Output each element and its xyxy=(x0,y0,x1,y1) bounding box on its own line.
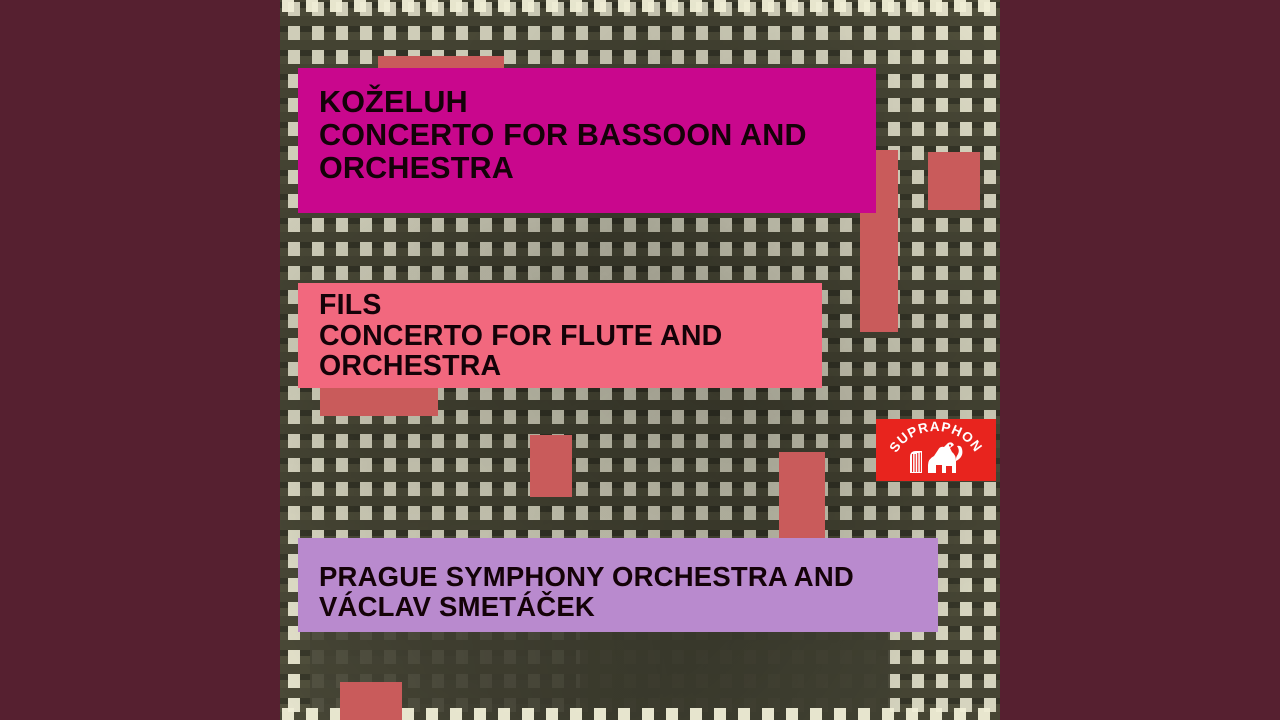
accent-rect xyxy=(320,388,438,416)
screen: KOŽELUH CONCERTO FOR BASSOON AND ORCHEST… xyxy=(0,0,1280,720)
letterbox-left xyxy=(0,0,280,720)
panel-kozeluh-line-3: ORCHESTRA xyxy=(319,152,876,185)
accent-rect xyxy=(340,682,402,720)
supraphon-logo: SUPRAPHON xyxy=(876,419,996,481)
album-cover-art: KOŽELUH CONCERTO FOR BASSOON AND ORCHEST… xyxy=(280,0,1000,720)
panel-kozeluh-line-1: KOŽELUH xyxy=(319,86,876,119)
panel-kozeluh-line-2: CONCERTO FOR BASSOON AND xyxy=(319,119,876,152)
panel-performers-line-1: PRAGUE SYMPHONY ORCHESTRA AND xyxy=(319,562,938,592)
panel-fils-line-2: CONCERTO FOR FLUTE AND xyxy=(319,321,822,352)
panel-kozeluh: KOŽELUH CONCERTO FOR BASSOON AND ORCHEST… xyxy=(298,68,876,213)
panel-fils-line-3: ORCHESTRA xyxy=(319,351,822,382)
panel-fils: FILS CONCERTO FOR FLUTE AND ORCHESTRA xyxy=(298,283,822,388)
panel-fils-line-1: FILS xyxy=(319,290,822,321)
letterbox-right xyxy=(1000,0,1280,720)
panel-performers: PRAGUE SYMPHONY ORCHESTRA AND VÁCLAV SME… xyxy=(298,538,938,632)
accent-rect xyxy=(530,435,572,497)
accent-rect xyxy=(928,152,980,210)
accent-rect xyxy=(779,452,825,544)
svg-text:SUPRAPHON: SUPRAPHON xyxy=(886,419,985,455)
panel-performers-line-2: VÁCLAV SMETÁČEK xyxy=(319,592,938,622)
edge-sprockets-top xyxy=(280,0,1000,12)
